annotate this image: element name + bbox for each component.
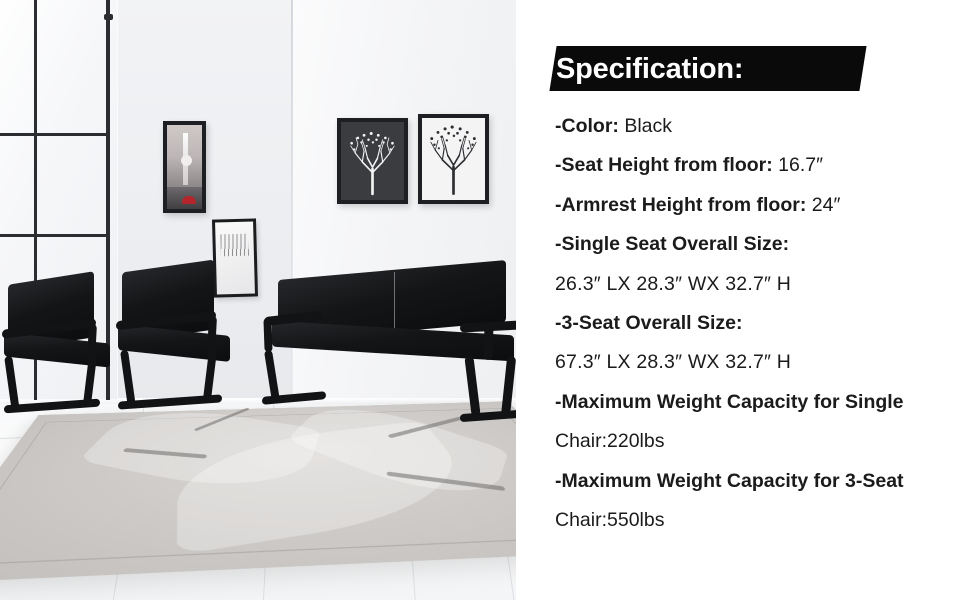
armchair-left <box>2 276 126 421</box>
spec-row-color: -Color: Black <box>555 107 967 146</box>
spec-row-single-size-value: 26.3″ LX 28.3″ WX 32.7″ H <box>555 265 967 304</box>
three-seat-bench <box>262 266 524 426</box>
spec-value-seat-height: 16.7″ <box>778 154 823 176</box>
spec-row-armrest-height: -Armrest Height from floor: 24″ <box>555 186 967 225</box>
product-spec-image: Specification: -Color: Black -Seat Heigh… <box>0 0 970 600</box>
wall-art-city-print <box>163 121 206 213</box>
city-print-artwork <box>167 125 202 209</box>
spec-value-single-size: 26.3″ LX 28.3″ WX 32.7″ H <box>555 273 791 295</box>
spec-label-seat-height: -Seat Height from floor: <box>555 154 773 176</box>
product-photo <box>0 0 560 600</box>
spec-label-max-weight-single: -Maximum Weight Capacity for Single <box>555 391 904 413</box>
specification-title: Specification: <box>556 47 743 92</box>
tree-dark-icon <box>341 122 404 200</box>
bench-leg-front-right <box>464 356 480 417</box>
spec-label-armrest-height: -Armrest Height from floor: <box>555 194 806 216</box>
spec-row-three-seat-size-value: 67.3″ LX 28.3″ WX 32.7″ H <box>555 343 967 382</box>
area-rug <box>0 401 560 584</box>
bench-arm-support-right <box>483 322 493 360</box>
spec-value-max-weight-three-seat: Chair:550lbs <box>555 509 664 531</box>
spec-row-three-seat-size-label: -3-Seat Overall Size: <box>555 304 967 343</box>
spec-label-color: -Color: <box>555 115 619 137</box>
spec-value-armrest-height: 24″ <box>812 194 841 216</box>
spec-label-single-size: -Single Seat Overall Size: <box>555 233 789 255</box>
specification-panel: Specification: -Color: Black -Seat Heigh… <box>516 0 970 600</box>
spec-label-max-weight-three-seat: -Maximum Weight Capacity for 3-Seat <box>555 470 904 492</box>
spec-row-max-weight-three-seat-line1: -Maximum Weight Capacity for 3-Seat <box>555 462 967 501</box>
wall-art-tree-dark <box>337 118 408 204</box>
wall-art-tree-light <box>418 114 489 204</box>
bench-arm-support-left <box>263 318 272 352</box>
specification-list: -Color: Black -Seat Height from floor: 1… <box>555 107 967 540</box>
spec-value-color: Black <box>624 115 672 137</box>
bench-sled-runner-right <box>460 410 520 422</box>
spec-value-max-weight-single: Chair:220lbs <box>555 430 664 452</box>
spec-row-single-size-label: -Single Seat Overall Size: <box>555 225 967 264</box>
spec-row-max-weight-single-line1: -Maximum Weight Capacity for Single <box>555 383 967 422</box>
tree-light-icon <box>422 118 485 200</box>
spec-label-three-seat-size: -3-Seat Overall Size: <box>555 312 743 334</box>
armchair-middle <box>114 264 250 416</box>
spec-row-seat-height: -Seat Height from floor: 16.7″ <box>555 146 967 185</box>
spec-row-max-weight-single-line2: Chair:220lbs <box>555 422 967 461</box>
spec-row-max-weight-three-seat-line2: Chair:550lbs <box>555 501 967 540</box>
bench-leg-back-right <box>501 356 516 419</box>
bench-backrest-seam <box>394 272 395 330</box>
spec-value-three-seat-size: 67.3″ LX 28.3″ WX 32.7″ H <box>555 351 791 373</box>
